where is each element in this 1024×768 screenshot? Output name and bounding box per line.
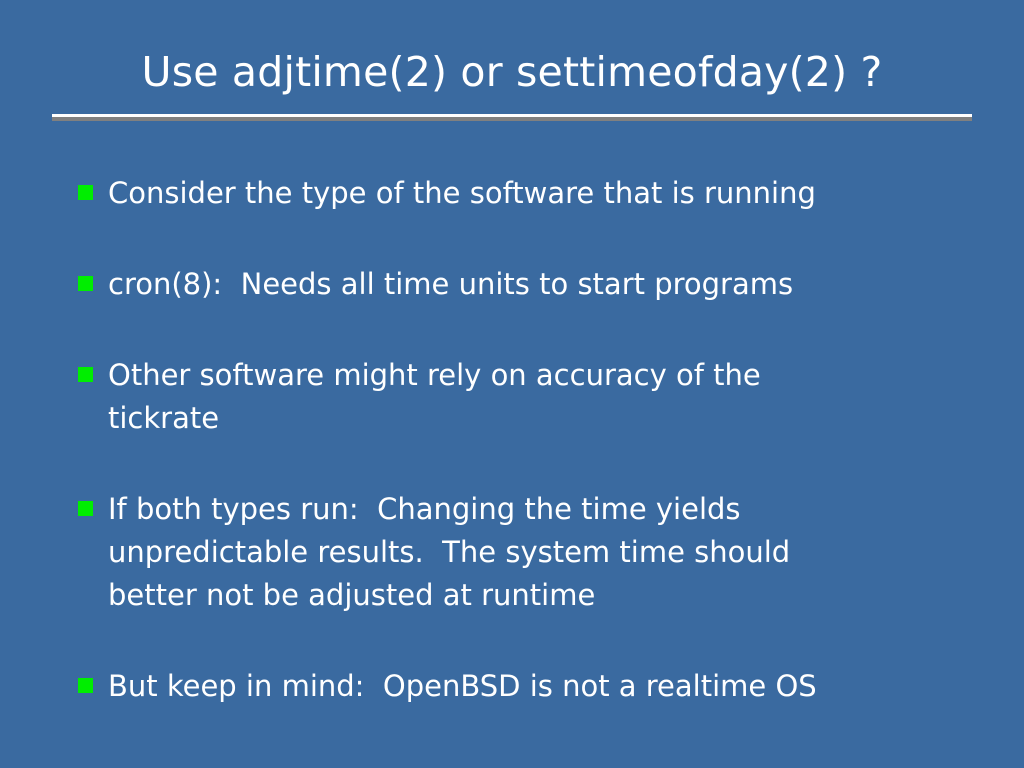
presentation-slide: Use adjtime(2) or settimeofday(2) ? Cons… [0,0,1024,768]
list-item-label: Other software might rely on accuracy of… [108,354,958,440]
list-item-label: cron(8): Needs all time units to start p… [108,263,958,306]
title-divider-shadow [52,117,972,121]
list-item-label: But keep in mind: OpenBSD is not a realt… [108,665,958,708]
square-bullet-icon [78,501,93,516]
bullet-list: Consider the type of the software that i… [78,172,958,708]
square-bullet-icon [78,276,93,291]
list-item: Other software might rely on accuracy of… [78,354,958,440]
list-item: Consider the type of the software that i… [78,172,958,215]
square-bullet-icon [78,185,93,200]
square-bullet-icon [78,678,93,693]
slide-title-block: Use adjtime(2) or settimeofday(2) ? [52,44,972,100]
list-item: If both types run: Changing the time yie… [78,488,958,617]
page-title: Use adjtime(2) or settimeofday(2) ? [52,44,972,100]
list-item-label: If both types run: Changing the time yie… [108,488,958,617]
list-item: But keep in mind: OpenBSD is not a realt… [78,665,958,708]
list-item-label: Consider the type of the software that i… [108,172,958,215]
list-item: cron(8): Needs all time units to start p… [78,263,958,306]
square-bullet-icon [78,367,93,382]
